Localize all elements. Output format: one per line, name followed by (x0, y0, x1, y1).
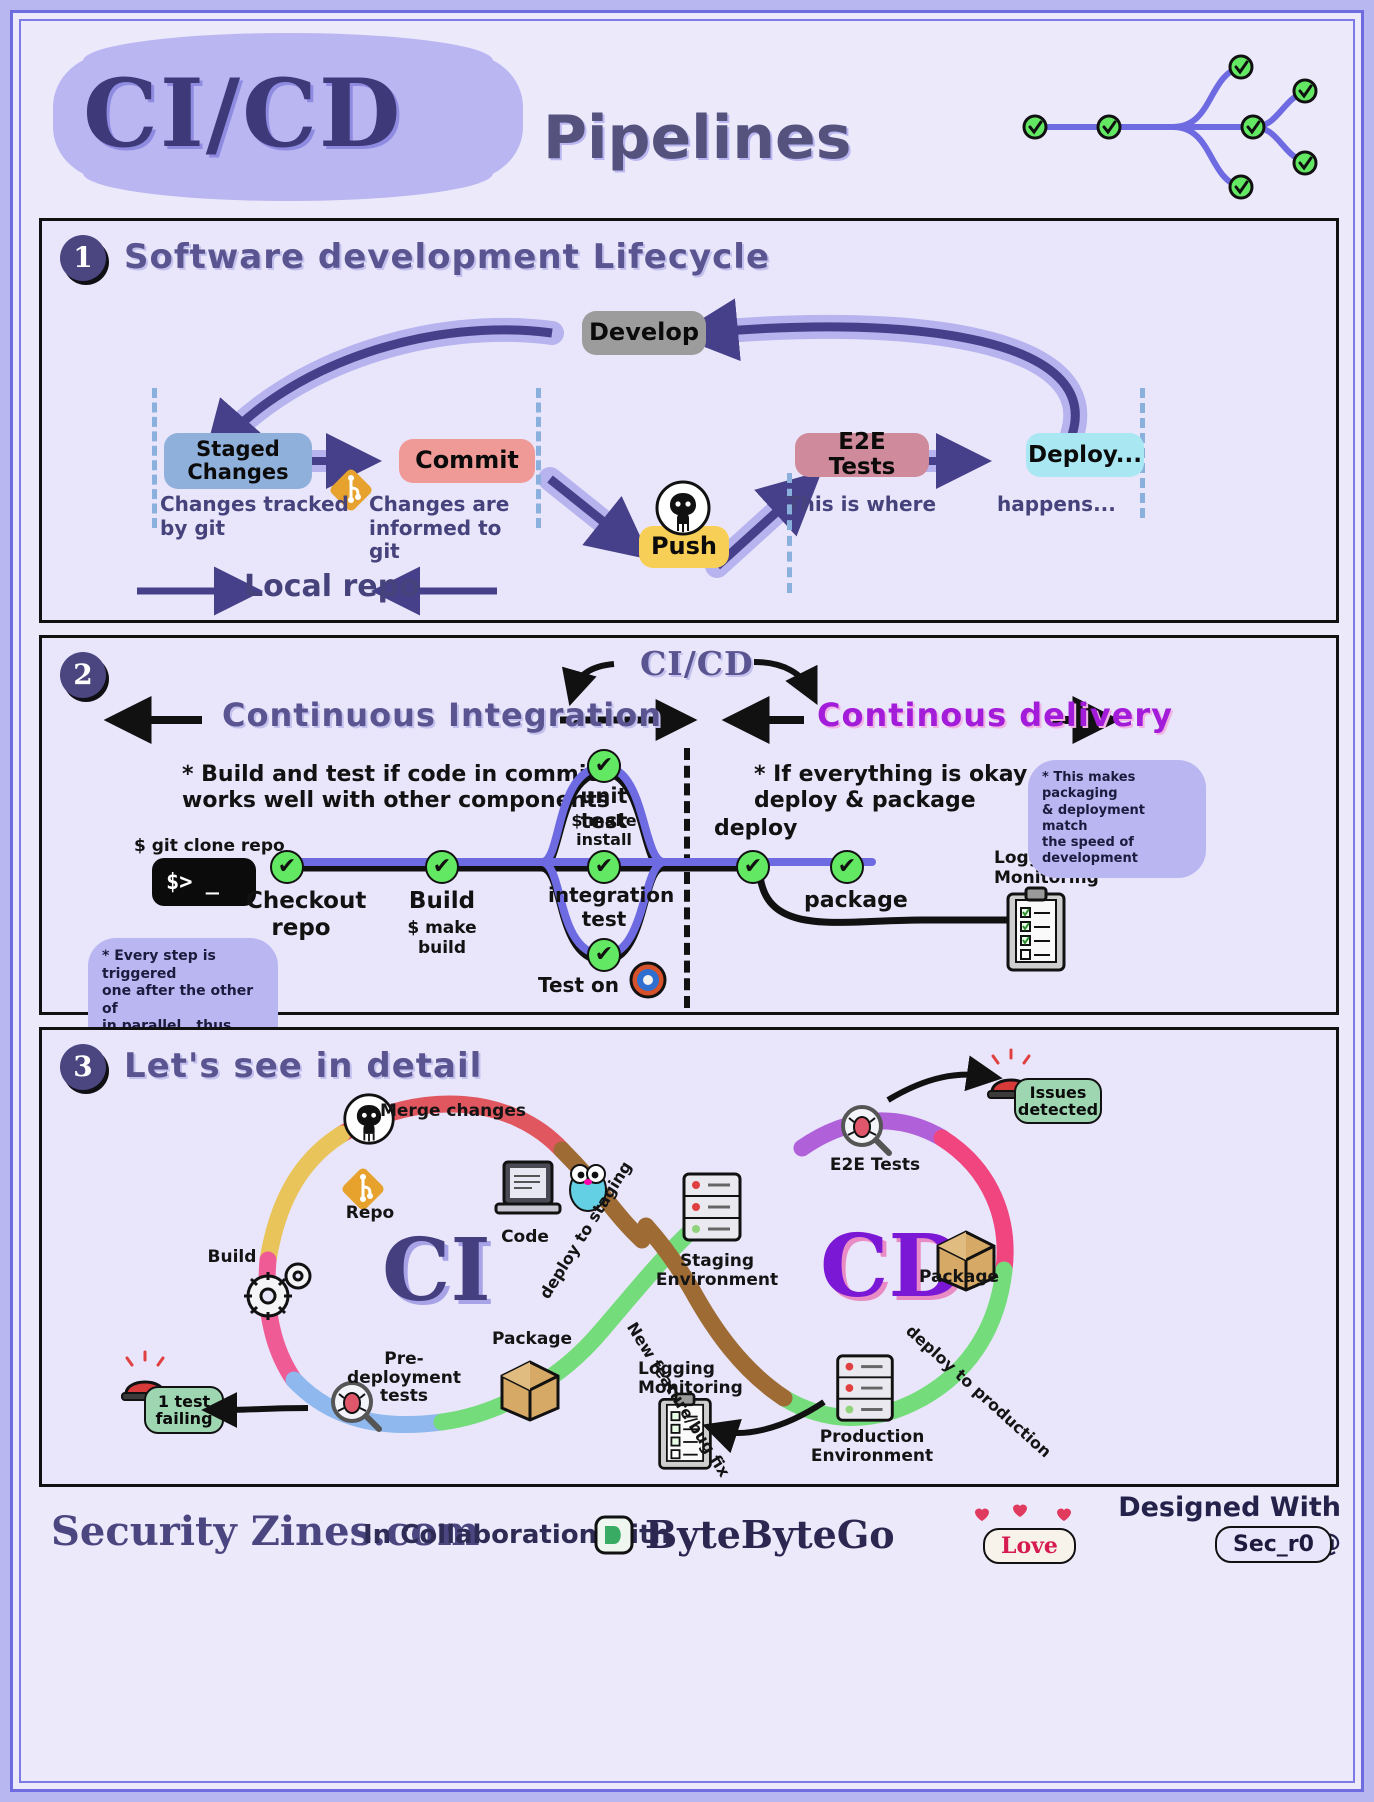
pipeline-label-test-on: Test on (538, 974, 619, 998)
pipeline-label-build: Build (392, 888, 492, 915)
remote-dash-left (787, 473, 792, 593)
git-branch-graph-icon (1023, 45, 1323, 205)
love-badge: Love (983, 1528, 1076, 1564)
bytebytego-logo-icon (593, 1514, 635, 1556)
poster-page: CI/CD Pipelines (10, 10, 1364, 1792)
pipeline-label-integration-test: integration test (548, 884, 660, 931)
section-3-connectors (42, 1030, 1336, 1486)
node-commit[interactable]: Commit (399, 439, 535, 483)
caption-e2e: This is where (787, 493, 936, 517)
pipeline-cmd-build: $ make build (382, 918, 502, 958)
caption-staged: Changes tracked by git (160, 493, 349, 540)
poster-header: CI/CD Pipelines (53, 31, 1333, 211)
author-handle-badge[interactable]: Sec_r0 (1215, 1526, 1332, 1563)
local-repo-left-dash (152, 388, 157, 528)
section-1: 1 Software development Lifecycle (39, 218, 1339, 623)
local-repo-right-dash (536, 388, 541, 528)
node-integration-test-check[interactable]: ✔ (587, 850, 621, 884)
node-package-check[interactable]: ✔ (830, 850, 864, 884)
node-unit-test-check[interactable]: ✔ (587, 749, 621, 783)
pipeline-label-package: package (804, 888, 908, 914)
node-develop[interactable]: Develop (582, 311, 706, 355)
node-deploy-check[interactable]: ✔ (736, 850, 770, 884)
note-packaging-speed: * This makes packaging & deployment matc… (1028, 760, 1206, 878)
clipboard-icon (1004, 886, 1068, 974)
pipeline-label-checkout: Checkout repo (246, 888, 356, 942)
node-test-on-check[interactable]: ✔ (587, 938, 621, 972)
page-subtitle: Pipelines (543, 103, 851, 173)
node-checkout-check[interactable]: ✔ (270, 850, 304, 884)
hearts-icon (965, 1504, 1085, 1530)
partner-bytebytego: ByteByteGo (645, 1512, 895, 1557)
node-e2e-tests[interactable]: E2E Tests (795, 433, 929, 477)
node-deploy[interactable]: Deploy... (1026, 433, 1144, 477)
section-3: 3 Let's see in detail CI CD (39, 1027, 1339, 1487)
browser-target-icon (628, 960, 668, 1000)
pipeline-cmd-unit-test: $ make install (542, 812, 666, 850)
caption-commit: Changes are informed to git (369, 493, 509, 564)
node-build-check[interactable]: ✔ (425, 850, 459, 884)
github-octocat-icon (654, 479, 712, 537)
page-title: CI/CD (83, 59, 513, 169)
label-local-repo: Local repo (244, 569, 420, 604)
pipeline-label-deploy: deploy (714, 816, 797, 842)
poster-footer: Security Zines.com In Collaboration with… (47, 1498, 1347, 1588)
caption-deploy: happens... (997, 493, 1116, 517)
node-staged-changes[interactable]: Staged Changes (164, 433, 312, 489)
section-2: 2 CI/CD Continuous Integration Continous… (39, 635, 1339, 1015)
